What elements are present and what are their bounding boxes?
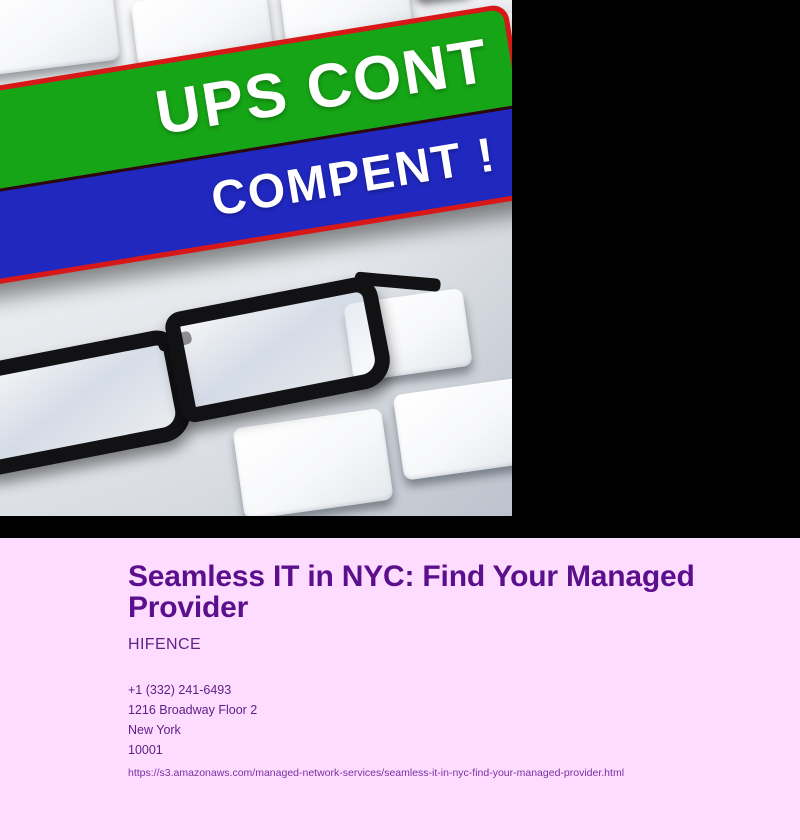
page-title: Seamless IT in NYC: Find Your Managed Pr… (128, 562, 728, 624)
brand-name: HIFENCE (128, 636, 740, 654)
hero-media-band: ⌘ ⇧ ⌥ UPS CONT COMPENT ! (0, 0, 800, 538)
keyboard-key (393, 377, 512, 480)
contact-street: 1216 Broadway Floor 2 (128, 700, 740, 720)
source-url-link[interactable]: https://s3.amazonaws.com/managed-network… (128, 766, 740, 780)
page-root: ⌘ ⇧ ⌥ UPS CONT COMPENT ! (0, 0, 800, 840)
contact-city: New York (128, 720, 740, 740)
content-inner: Seamless IT in NYC: Find Your Managed Pr… (0, 538, 800, 780)
contact-postal-code: 10001 (128, 740, 740, 760)
keyboard-key (343, 288, 473, 382)
contact-block: +1 (332) 241-6493 1216 Broadway Floor 2 … (128, 680, 740, 780)
contact-phone[interactable]: +1 (332) 241-6493 (128, 680, 740, 700)
hero-photo: ⌘ ⇧ ⌥ UPS CONT COMPENT ! (0, 0, 512, 516)
content-area: Seamless IT in NYC: Find Your Managed Pr… (0, 538, 800, 840)
